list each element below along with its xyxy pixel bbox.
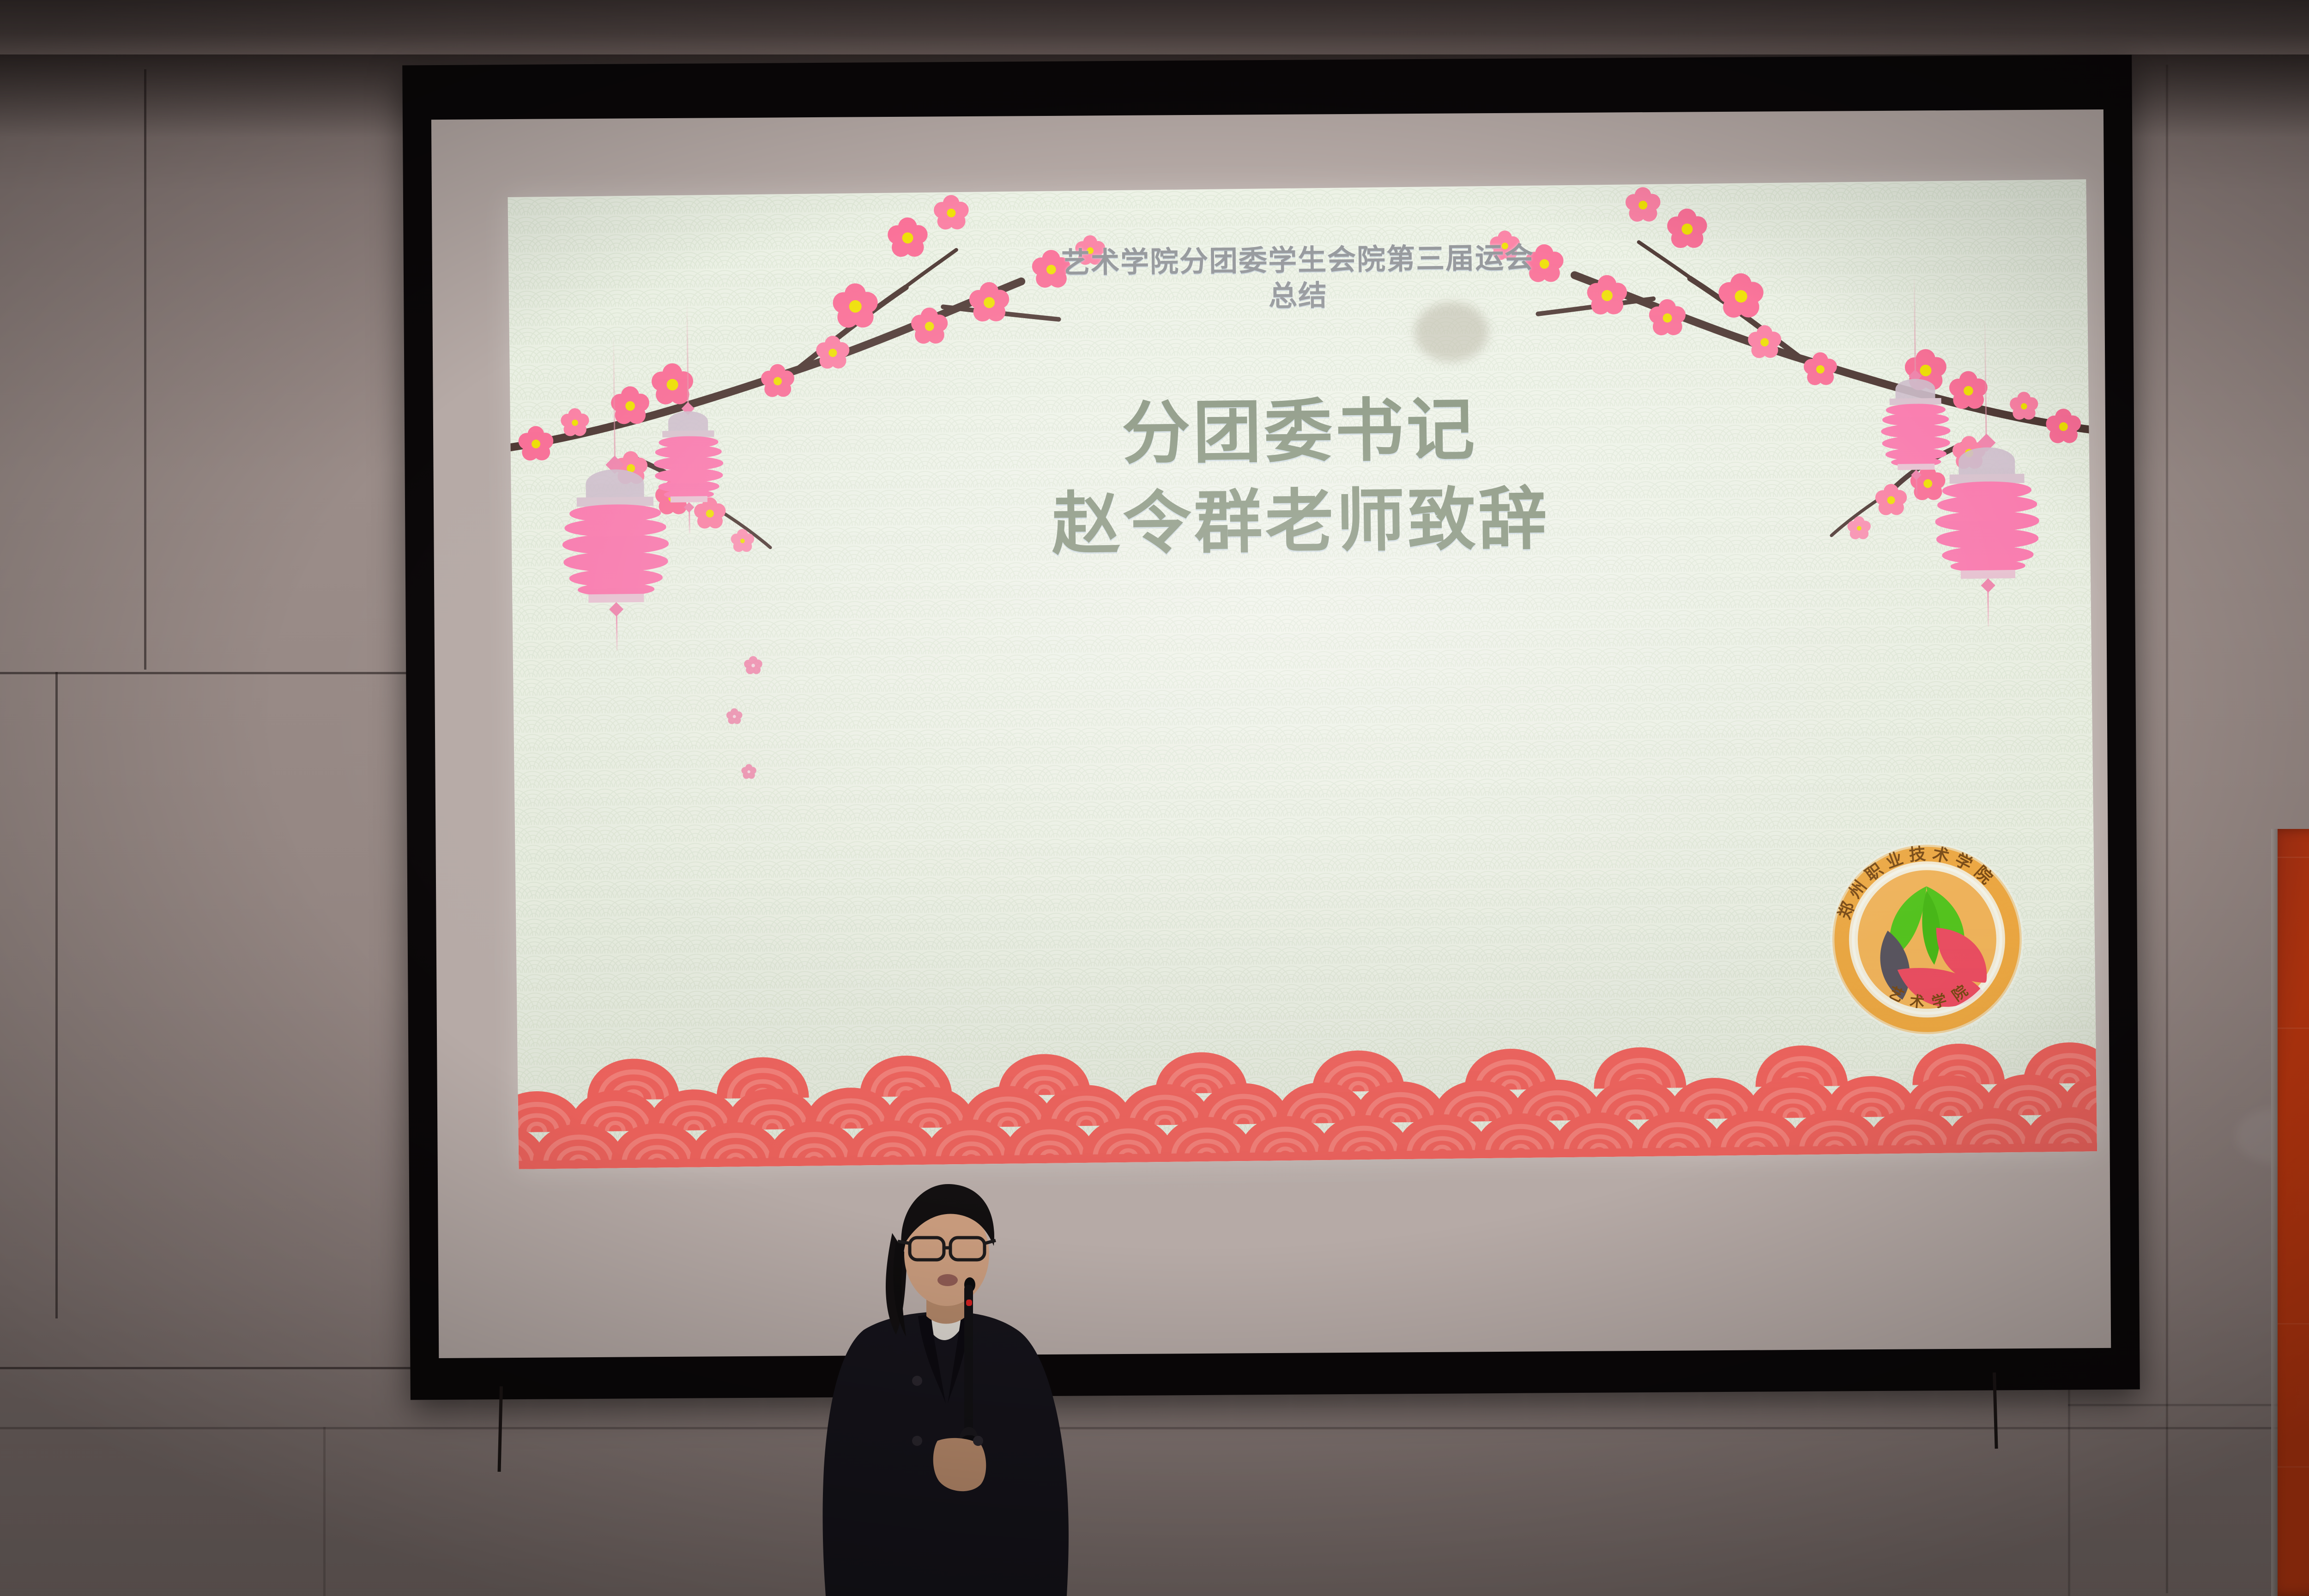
photo-scene: 郑州职业技术学院 艺术学院 艺术学院分团委学生会院第三届运会 总结 分团委书记 …	[0, 0, 2309, 1596]
photo-vignette	[0, 0, 2309, 1596]
